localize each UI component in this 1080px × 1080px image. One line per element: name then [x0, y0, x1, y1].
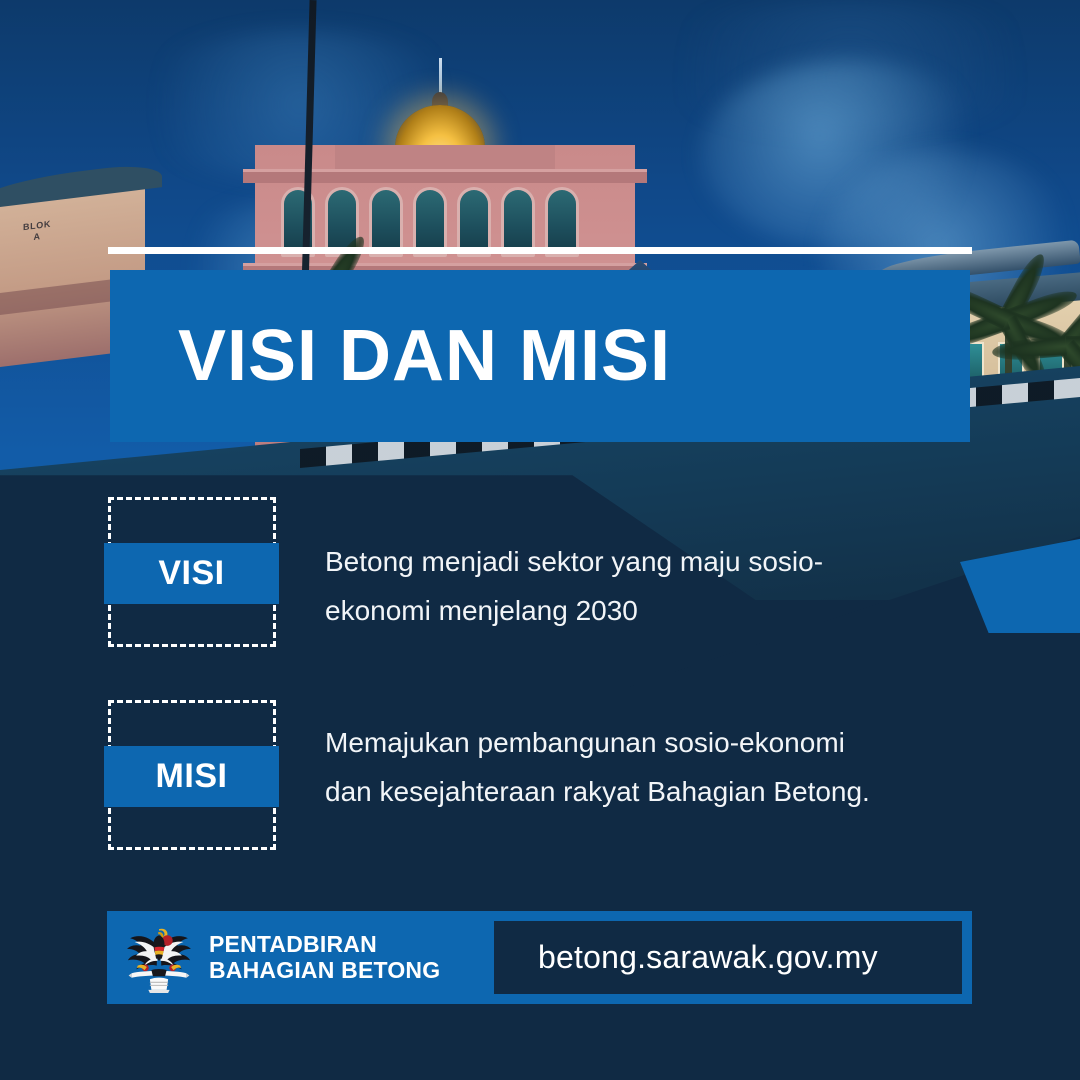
sarawak-coat-of-arms-icon [121, 920, 197, 996]
website-panel[interactable]: betong.sarawak.gov.my [490, 917, 966, 998]
left-building-roof [0, 161, 162, 212]
title-band: VISI DAN MISI [110, 270, 970, 442]
misi-section: MISI Memajukan pembangunan sosio-ekonomi… [104, 700, 885, 850]
misi-chip: MISI [104, 746, 279, 807]
visi-chip: VISI [104, 543, 279, 604]
misi-chip-label: MISI [156, 757, 228, 796]
website-url[interactable]: betong.sarawak.gov.my [538, 939, 878, 976]
visi-body-text: Betong menjadi sektor yang maju sosio-ek… [325, 497, 885, 635]
misi-chip-wrapper: MISI [104, 700, 279, 850]
poster-canvas: BLOK A KOMPLEKS PEJABAT KERAJAAN [0, 0, 1080, 1080]
brand-name: PENTADBIRAN BAHAGIAN BETONG [209, 932, 440, 984]
visi-chip-label: VISI [158, 554, 224, 593]
brand-line-2: BAHAGIAN BETONG [209, 958, 440, 984]
building-parapet [335, 145, 555, 171]
brand-block: PENTADBIRAN BAHAGIAN BETONG [107, 911, 487, 1004]
page-title: VISI DAN MISI [178, 320, 671, 392]
header-rule [108, 247, 972, 254]
visi-chip-wrapper: VISI [104, 497, 279, 647]
footer-bar: PENTADBIRAN BAHAGIAN BETONG betong.saraw… [107, 911, 972, 1004]
misi-body-text: Memajukan pembangunan sosio-ekonomi dan … [325, 700, 885, 816]
blok-a-sign: BLOK A [0, 215, 82, 249]
visi-section: VISI Betong menjadi sektor yang maju sos… [104, 497, 885, 647]
brand-line-1: PENTADBIRAN [209, 932, 440, 958]
